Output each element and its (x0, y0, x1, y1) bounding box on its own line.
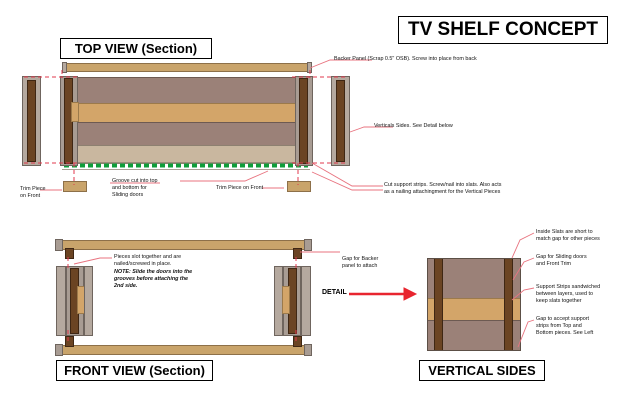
vertical-sides-leaders (0, 0, 620, 413)
leader-gap-sliding (513, 258, 534, 280)
annotation-gap-accept: Gap to accept support strips from Top an… (536, 316, 593, 338)
annotation-support-sandwich: Support Strips sandwiched between layers… (536, 284, 600, 306)
annotation-gap-sliding: Gap for Sliding doors and Front Trim (536, 254, 587, 268)
leader-inside-slats (512, 233, 534, 258)
drawing-canvas: TV SHELF CONCEPT TOP VIEW (Section) FRON… (0, 0, 620, 413)
annotation-gap-backer: Gap for Backer panel to attach (342, 256, 378, 270)
leader-support-sandwich (512, 288, 534, 300)
leader-gap-accept (518, 320, 534, 347)
annotation-inside-slats: Inside Slats are short to match gap for … (536, 229, 600, 243)
